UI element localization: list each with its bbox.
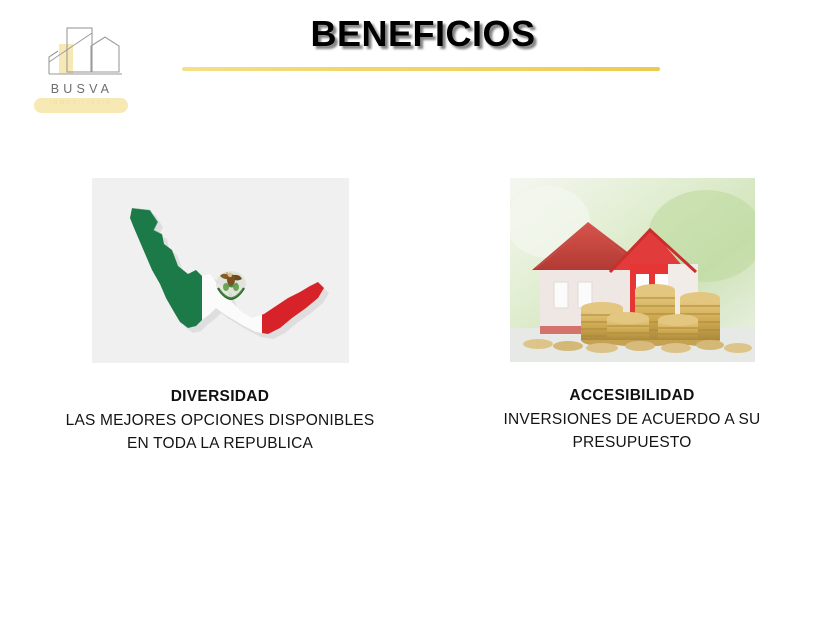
caption-body-line-2: PRESUPUESTO	[432, 432, 832, 454]
page-title: BENEFICIOS	[180, 13, 666, 55]
caption-body-line-2: EN TODA LA REPUBLICA	[20, 433, 420, 455]
caption-body-line-1: INVERSIONES DE ACUERDO A SU	[432, 409, 832, 431]
title-underline-rule	[182, 67, 660, 71]
caption-heading: ACCESIBILIDAD	[432, 385, 832, 407]
logo-wordmark: BUSVA	[26, 82, 134, 96]
caption-body-line-1: LAS MEJORES OPCIONES DISPONIBLES	[20, 410, 420, 432]
caption-accesibilidad: ACCESIBILIDAD INVERSIONES DE ACUERDO A S…	[432, 385, 832, 454]
busva-logo[interactable]: BUSVA INMOBILIARIA	[26, 24, 134, 120]
caption-diversidad: DIVERSIDAD LAS MEJORES OPCIONES DISPONIB…	[20, 386, 420, 455]
slide-canvas: BUSVA INMOBILIARIA BENEFICIOS	[0, 0, 840, 630]
house-coins-image	[510, 178, 755, 362]
benefit-column-accesibilidad: ACCESIBILIDAD INVERSIONES DE ACUERDO A S…	[432, 178, 832, 454]
mexico-map-flag-image	[92, 178, 349, 363]
benefit-column-diversidad: DIVERSIDAD LAS MEJORES OPCIONES DISPONIB…	[20, 178, 420, 455]
caption-heading: DIVERSIDAD	[20, 386, 420, 408]
logo-tagline: INMOBILIARIA	[34, 100, 128, 106]
building-outline-icon	[36, 24, 124, 84]
